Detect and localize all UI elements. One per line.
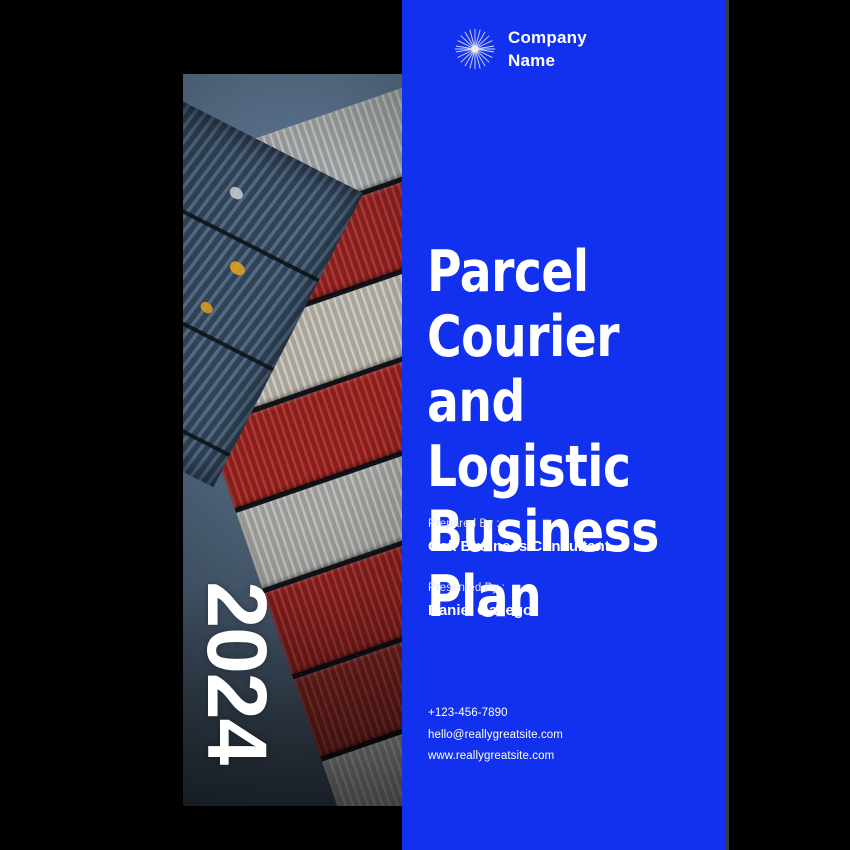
credits-block: Prepared By : Oak Business Consultant Pr… xyxy=(428,516,708,620)
prepared-by-label: Prepared By : xyxy=(428,516,708,532)
contact-block: +123-456-7890 hello@reallygreatsite.com … xyxy=(428,703,708,768)
presentation-slide: 2024 xyxy=(0,0,850,850)
contact-email[interactable]: hello@reallygreatsite.com xyxy=(428,725,708,747)
prepared-by-group: Prepared By : Oak Business Consultant xyxy=(428,516,708,556)
prepared-by-value: Oak Business Consultant xyxy=(428,537,708,556)
year-label: 2024 xyxy=(205,578,267,768)
presented-by-label: Presented By : xyxy=(428,580,708,596)
company-name: Company Name xyxy=(508,26,587,72)
contact-phone[interactable]: +123-456-7890 xyxy=(428,703,708,725)
sunburst-starburst-icon xyxy=(452,26,498,72)
presented-by-group: Presented By : Daniel Gallego xyxy=(428,580,708,620)
brand-lockup[interactable]: Company Name xyxy=(452,26,587,72)
year-text: 2024 xyxy=(198,582,274,765)
contact-website[interactable]: www.reallygreatsite.com xyxy=(428,746,708,768)
presented-by-value: Daniel Gallego xyxy=(428,601,708,620)
panel-right-edge xyxy=(725,0,729,850)
